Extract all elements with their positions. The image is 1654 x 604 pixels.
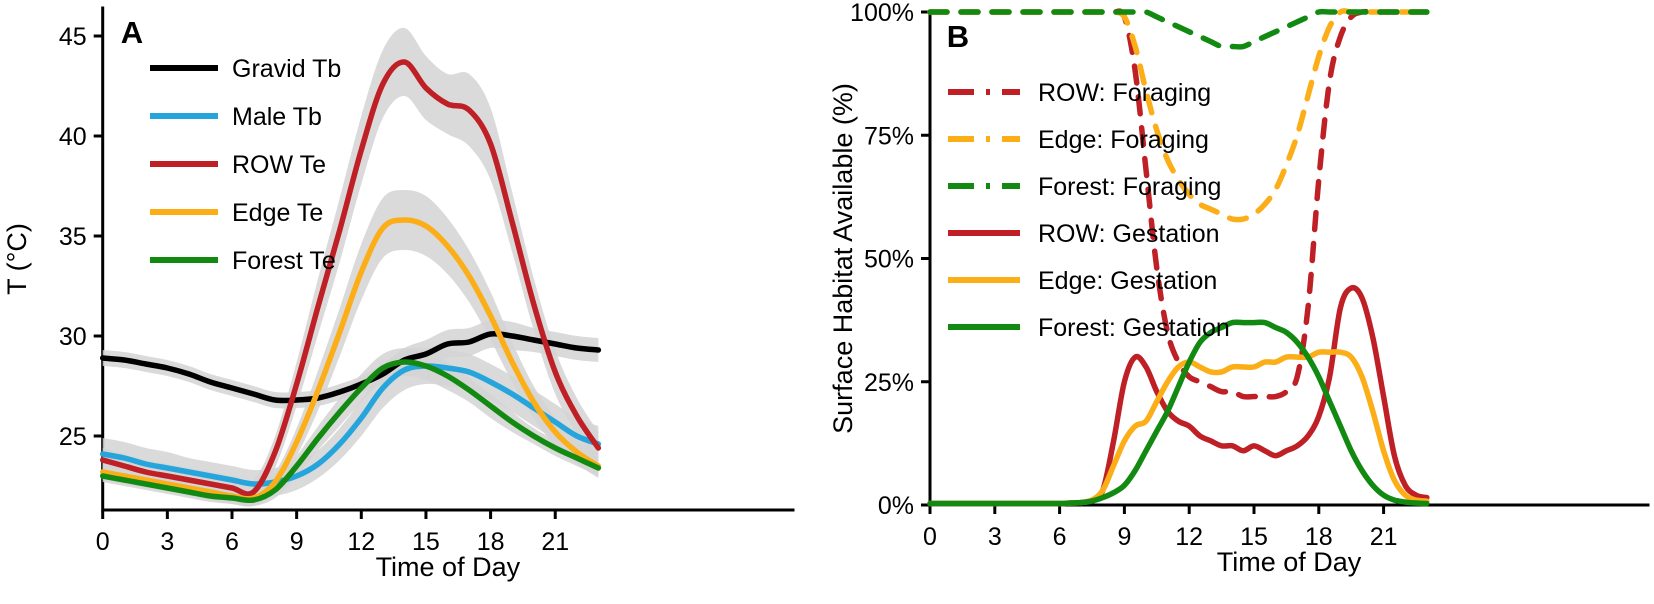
legend-label-a-2: ROW Te <box>232 151 326 179</box>
figure-root: 2530354045036912151821Time of DayT (°C)A… <box>0 0 1654 604</box>
panel-b-plot: 0%25%50%75%100%036912151821Time of DaySu… <box>820 0 1654 604</box>
legend-label-b-4: Edge: Gestation <box>1038 267 1217 295</box>
y-tick-label-a: 35 <box>59 223 87 251</box>
x-tick-label-b: 12 <box>1175 523 1203 551</box>
x-tick-label-a: 0 <box>96 528 110 556</box>
panel-b: 0%25%50%75%100%036912151821Time of DaySu… <box>820 0 1654 604</box>
panel-a-plot: 2530354045036912151821Time of DayT (°C)A… <box>0 0 820 604</box>
y-tick-label-a: 40 <box>59 123 87 151</box>
panel-b-label: B <box>947 19 969 54</box>
y-tick-label-b: 100% <box>850 0 914 27</box>
series-line-forest-gestation <box>930 322 1427 503</box>
legend-label-a-1: Male Tb <box>232 103 322 131</box>
y-tick-label-b: 50% <box>864 246 914 274</box>
x-tick-label-a: 12 <box>347 528 375 556</box>
x-axis-title-a: Time of Day <box>376 552 521 582</box>
x-tick-label-a: 6 <box>225 528 239 556</box>
y-tick-label-b: 0% <box>878 492 914 520</box>
y-tick-label-a: 30 <box>59 323 87 351</box>
x-axis-title-b: Time of Day <box>1217 547 1362 577</box>
legend-label-b-0: ROW: Foraging <box>1038 79 1211 107</box>
legend-label-b-2: Forest: Foraging <box>1038 173 1221 201</box>
x-tick-label-a: 21 <box>541 528 569 556</box>
legend-label-a-4: Forest Te <box>232 247 336 275</box>
legend-label-a-3: Edge Te <box>232 199 323 227</box>
legend-label-b-3: ROW: Gestation <box>1038 220 1220 248</box>
legend-label-b-5: Forest: Gestation <box>1038 314 1230 342</box>
panel-a: 2530354045036912151821Time of DayT (°C)A… <box>0 0 820 604</box>
x-tick-label-a: 3 <box>160 528 174 556</box>
x-tick-label-b: 3 <box>988 523 1002 551</box>
panel-a-label: A <box>121 15 143 50</box>
x-tick-label-b: 9 <box>1117 523 1131 551</box>
y-tick-label-b: 75% <box>864 122 914 150</box>
y-axis-title-b: Surface Habitat Available (%) <box>828 83 858 434</box>
y-tick-label-a: 25 <box>59 423 87 451</box>
x-tick-label-b: 6 <box>1053 523 1067 551</box>
legend-label-b-1: Edge: Foraging <box>1038 126 1209 154</box>
y-tick-label-b: 25% <box>864 369 914 397</box>
x-tick-label-b: 21 <box>1370 523 1398 551</box>
legend-label-a-0: Gravid Tb <box>232 55 341 83</box>
series-line-edge-gestation <box>930 352 1427 504</box>
y-axis-title-a: T (°C) <box>2 223 32 295</box>
y-tick-label-a: 45 <box>59 23 87 51</box>
x-tick-label-b: 0 <box>923 523 937 551</box>
x-tick-label-a: 9 <box>290 528 304 556</box>
